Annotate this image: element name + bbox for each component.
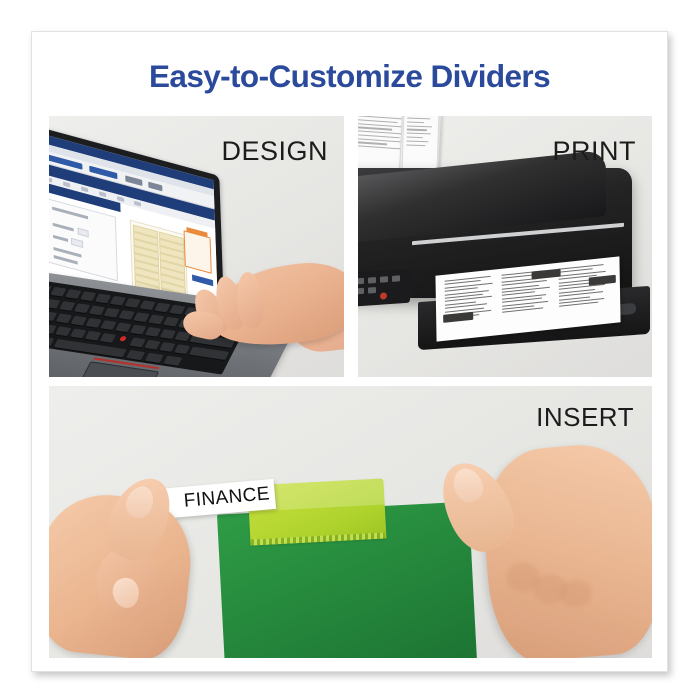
panel-label-print: PRINT — [553, 136, 637, 167]
app-settings-card — [49, 198, 118, 282]
hand-on-laptop — [177, 258, 344, 377]
panel-label-design: DESIGN — [221, 136, 328, 167]
panel-label-insert: INSERT — [536, 402, 634, 433]
palm — [477, 439, 652, 658]
trackpoint-icon[interactable] — [119, 336, 127, 342]
panel-print: PRINT — [358, 116, 652, 377]
product-feature-card: Easy-to-Customize Dividers — [31, 31, 668, 672]
power-indicator-icon[interactable] — [380, 292, 387, 299]
laptop-touchpad[interactable] — [76, 361, 159, 377]
right-hand — [428, 426, 652, 658]
printer-control-panel[interactable] — [358, 269, 410, 310]
page-title: Easy-to-Customize Dividers — [32, 58, 667, 95]
left-hand — [49, 462, 249, 658]
panel-insert: FINANCE INSERT — [49, 386, 652, 658]
panel-design: DESIGN — [49, 116, 344, 377]
